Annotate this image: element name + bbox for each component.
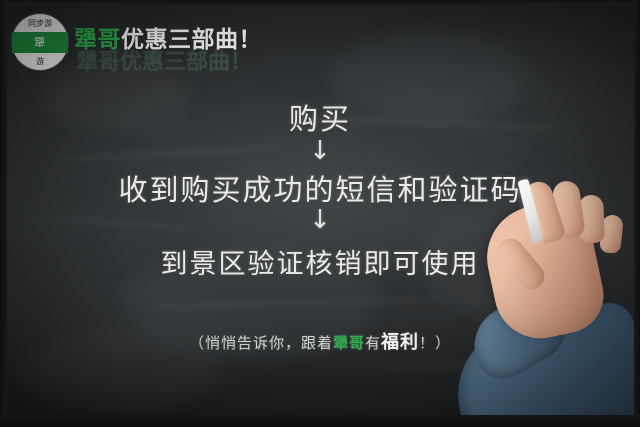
frame-right-edge	[634, 0, 640, 427]
footnote-highlight: 福利	[381, 332, 419, 353]
frame-bottom-edge	[0, 415, 640, 427]
logo-band-text: 犟	[12, 32, 68, 53]
step-1-text: 购买	[0, 96, 640, 138]
footnote-prefix: （悄悄告诉你，跟着	[189, 334, 333, 352]
headline-shadow-text: 犟哥优惠三部曲！	[76, 44, 252, 76]
footnote-mid: 有	[365, 334, 381, 352]
hand-holding-chalk	[444, 183, 640, 427]
frame-left-edge	[0, 0, 7, 427]
frame-top-edge	[0, 0, 640, 5]
blackboard-scene: 同步游 犟 游 犟哥优惠三部曲！ 犟哥优惠三部曲！ 购买 ↓ 收到购买成功的短信…	[0, 0, 640, 427]
logo-bottom-text: 游	[12, 55, 68, 69]
footnote-brand: 犟哥	[333, 334, 365, 352]
logo-top-text: 同步游	[12, 16, 68, 31]
brand-logo: 同步游 犟 游	[12, 14, 68, 70]
down-arrow-icon: ↓	[0, 136, 640, 166]
